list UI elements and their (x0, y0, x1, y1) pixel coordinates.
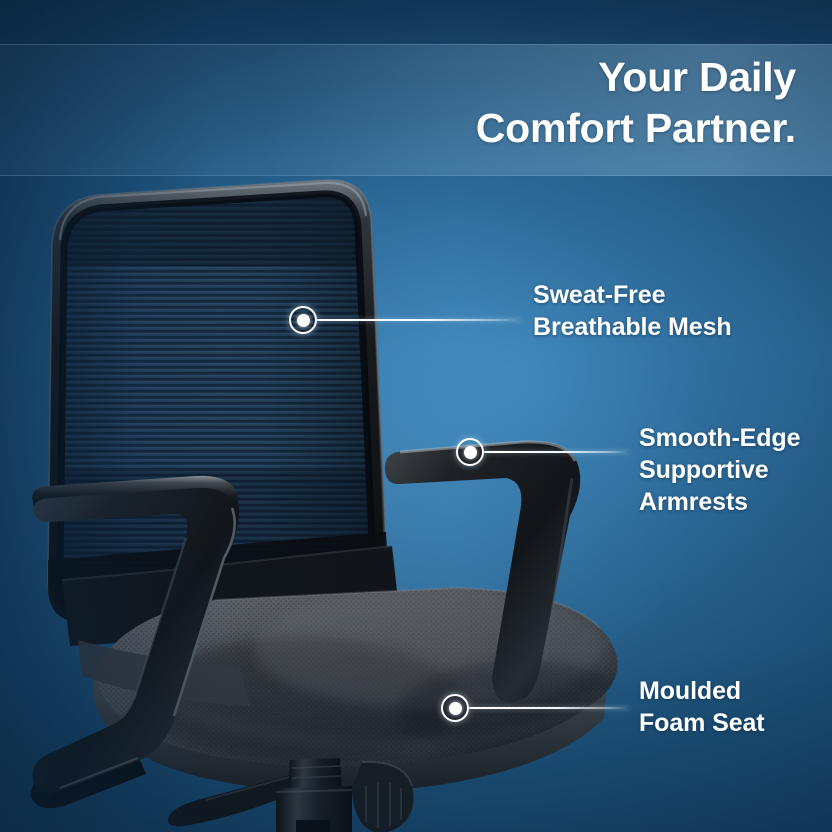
headline-line-1: Your Daily (156, 52, 796, 103)
headline: Your Daily Comfort Partner. (156, 52, 796, 154)
callout-leader-line-1 (317, 319, 522, 321)
banner-top-edge (0, 44, 832, 45)
callout-3-line-2: Foam Seat (639, 707, 765, 739)
callout-1-line-1: Sweat-Free (533, 279, 732, 311)
callout-1-line-2: Breathable Mesh (533, 311, 732, 343)
banner-bottom-edge (0, 175, 832, 176)
callout-2-line-1: Smooth-Edge (639, 422, 800, 454)
callout-3-line-1: Moulded (639, 675, 765, 707)
callout-marker-seat[interactable] (441, 694, 469, 722)
callout-leader-line-2 (484, 451, 630, 453)
callout-leader-line-3 (469, 707, 630, 709)
callout-label-seat: Moulded Foam Seat (639, 675, 765, 739)
product-feature-banner: Your Daily Comfort Partner. Sweat-Free B… (0, 0, 832, 832)
callout-2-line-2: Supportive (639, 454, 800, 486)
callout-2-line-3: Armrests (639, 486, 800, 518)
callout-label-mesh: Sweat-Free Breathable Mesh (533, 279, 732, 343)
headline-line-2: Comfort Partner. (156, 103, 796, 154)
callout-marker-mesh[interactable] (289, 306, 317, 334)
callout-marker-armrests[interactable] (456, 438, 484, 466)
callout-label-armrests: Smooth-Edge Supportive Armrests (639, 422, 800, 518)
